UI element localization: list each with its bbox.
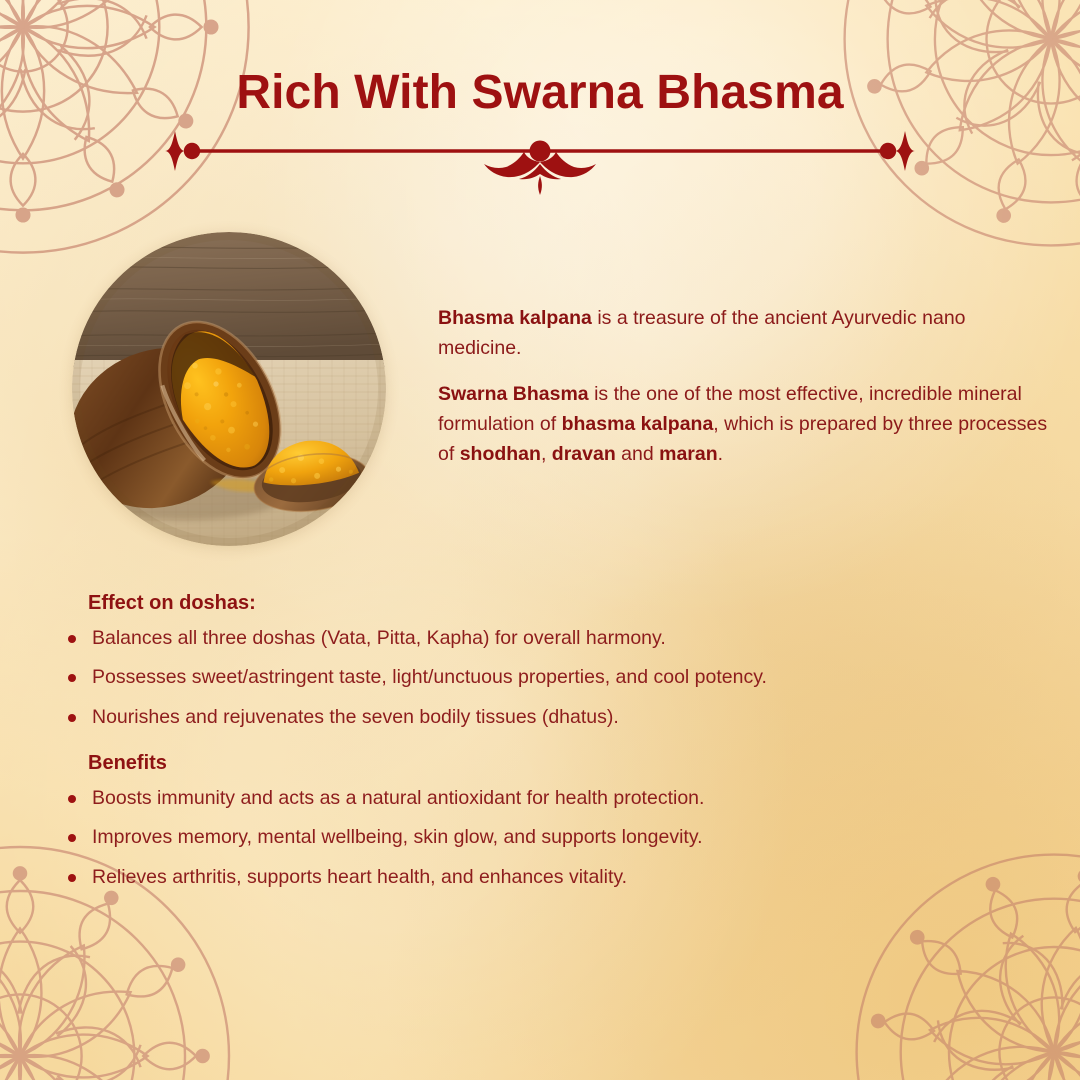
list-item: Nourishes and rejuvenates the seven bodi…	[68, 705, 1080, 730]
intro-paragraph: Swarna Bhasma is the one of the most eff…	[438, 380, 1050, 469]
list-item: Relieves arthritis, supports heart healt…	[68, 865, 1080, 890]
section-benefits: Benefits Boosts immunity and acts as a n…	[0, 752, 1080, 890]
intro-paragraphs: Bhasma kalpana is a treasure of the anci…	[438, 304, 1050, 469]
doshas-list: Balances all three doshas (Vata, Pitta, …	[0, 626, 1080, 730]
intro-paragraph: Bhasma kalpana is a treasure of the anci…	[438, 304, 1050, 363]
list-item: Possesses sweet/astringent taste, light/…	[68, 665, 1080, 690]
benefits-list: Boosts immunity and acts as a natural an…	[0, 786, 1080, 890]
section-heading: Benefits	[0, 752, 1080, 775]
page-title: Rich With Swarna Bhasma	[0, 0, 1080, 119]
section-heading: Effect on doshas:	[0, 592, 1080, 615]
infographic-page: Rich With Swarna Bhasma	[0, 0, 1080, 1080]
list-item: Boosts immunity and acts as a natural an…	[68, 786, 1080, 811]
section-effect-on-doshas: Effect on doshas: Balances all three dos…	[0, 592, 1080, 730]
turmeric-bowl-photo	[72, 232, 386, 546]
list-item: Balances all three doshas (Vata, Pitta, …	[68, 626, 1080, 651]
list-item: Improves memory, mental wellbeing, skin …	[68, 825, 1080, 850]
header: Rich With Swarna Bhasma	[0, 0, 1080, 197]
title-divider	[0, 131, 1080, 197]
